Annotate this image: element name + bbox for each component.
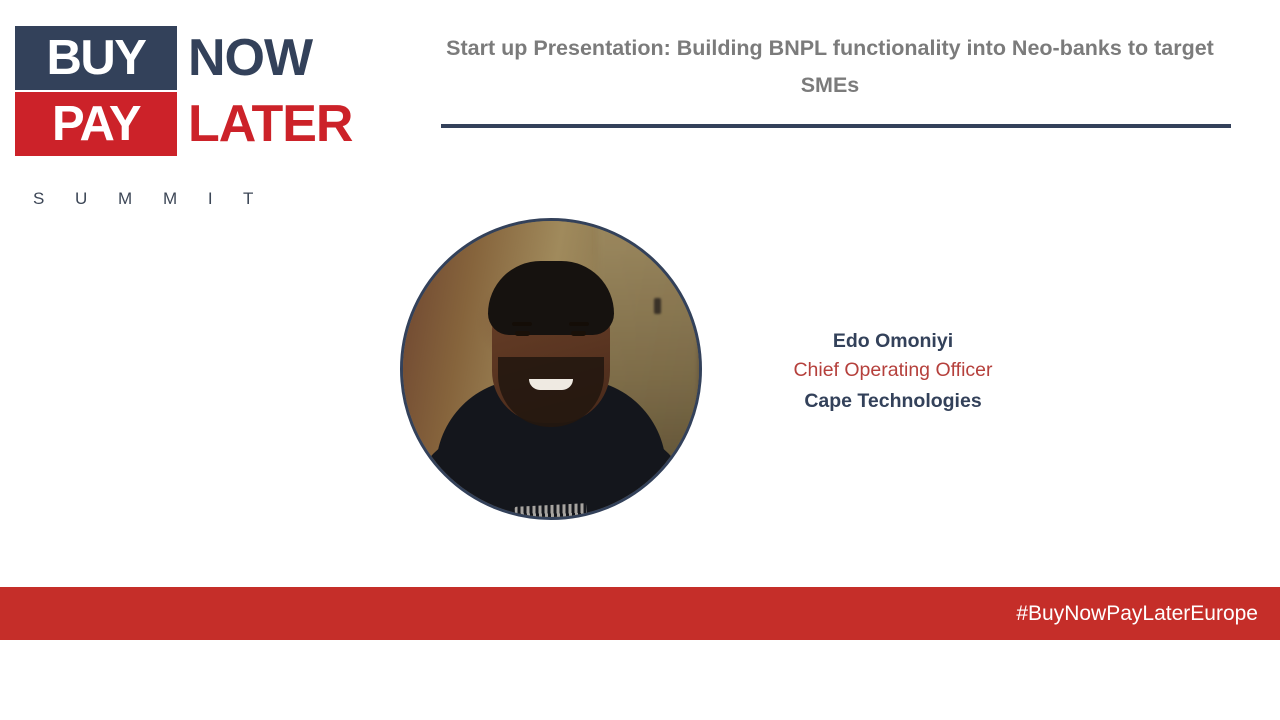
logo-word-summit: S U M M I T — [33, 189, 266, 209]
portrait-street-lamp — [654, 298, 661, 314]
speaker-company: Cape Technologies — [743, 386, 1043, 417]
title-divider-rule — [441, 124, 1231, 128]
speaker-details: Edo Omoniyi Chief Operating Officer Cape… — [743, 328, 1043, 417]
logo-row-buy-now: BUY NOW — [15, 26, 312, 90]
logo-box-pay: PAY — [15, 92, 177, 156]
speaker-name: Edo Omoniyi — [743, 328, 1043, 355]
footer-hashtag: #BuyNowPayLaterEurope — [1016, 587, 1258, 640]
portrait-tshirt-print — [515, 503, 588, 520]
portrait-eye-right — [571, 331, 586, 336]
portrait-smile — [529, 379, 573, 390]
logo-word-later: LATER — [188, 92, 352, 156]
portrait-eyebrow-right — [569, 322, 589, 326]
speaker-role: Chief Operating Officer — [743, 355, 1043, 386]
logo-word-pay: PAY — [52, 100, 140, 149]
speaker-portrait — [400, 218, 702, 520]
slide-title: Start up Presentation: Building BNPL fun… — [424, 30, 1236, 104]
footer-bar: #BuyNowPayLaterEurope — [0, 587, 1280, 640]
logo-box-buy: BUY — [15, 26, 177, 90]
portrait-eyebrow-left — [512, 322, 532, 326]
event-logo: BUY NOW PAY LATER S U M M I T — [15, 26, 415, 191]
portrait-eye-left — [515, 331, 530, 336]
portrait-background — [403, 221, 699, 517]
logo-row-pay-later: PAY LATER — [15, 92, 352, 156]
portrait-hair — [488, 261, 614, 335]
logo-word-now: NOW — [188, 26, 312, 90]
logo-word-buy: BUY — [47, 34, 146, 83]
